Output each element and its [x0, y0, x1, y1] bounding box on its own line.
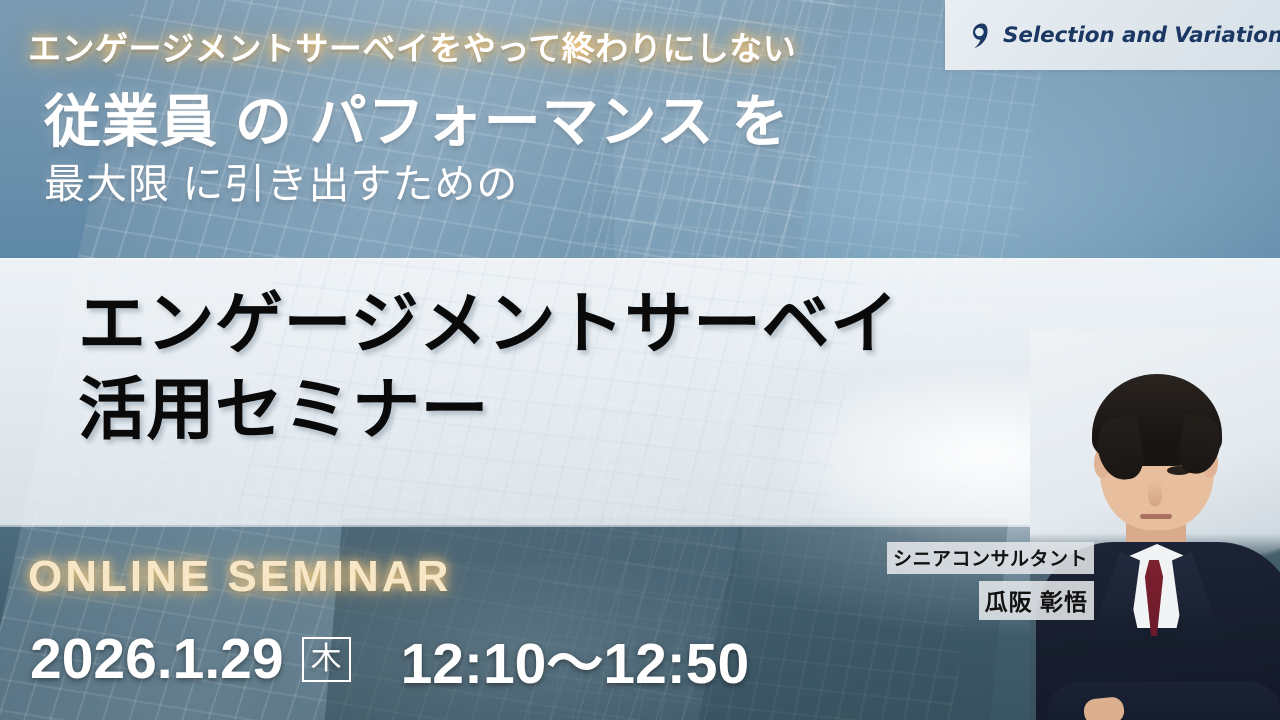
seminar-date: 2026.1.29 [30, 626, 284, 692]
spiral-circle-logo-icon [967, 20, 993, 50]
headline-line-1: 従業員 の パフォーマンス を [44, 92, 789, 154]
speaker-caption: シニアコンサルタント 瓜阪 彰悟 [887, 542, 1094, 620]
headline: 従業員 の パフォーマンス を 最大限 に引き出すための [44, 92, 789, 206]
seminar-banner: Selection and Variation エンゲージメントサーベイをやって… [0, 0, 1280, 720]
seminar-title: エンゲージメントサーベイ 活用セミナー [78, 288, 899, 446]
portrait-mouth [1140, 514, 1172, 519]
speaker-name: 瓜阪 彰悟 [979, 581, 1094, 620]
headline-line-2: 最大限 に引き出すための [44, 162, 789, 206]
speaker-portrait [1030, 330, 1280, 720]
seminar-title-line-1: エンゲージメントサーベイ [78, 288, 899, 360]
brand-name: Selection and Variation [1003, 23, 1280, 48]
kicker-text: エンゲージメントサーベイをやって終わりにしない [28, 22, 796, 70]
portrait-nose [1148, 480, 1162, 506]
portrait-crossed-arms [1048, 682, 1280, 720]
portrait-hand [1083, 696, 1125, 720]
seminar-title-line-2: 活用セミナー [78, 374, 899, 446]
seminar-weekday-badge: 木 [302, 637, 351, 682]
brand-logo-plate: Selection and Variation [945, 0, 1280, 70]
seminar-time: 12:10〜12:50 [401, 618, 750, 700]
speaker-role: シニアコンサルタント [887, 542, 1094, 574]
seminar-datetime: 2026.1.29 木 12:10〜12:50 [30, 618, 749, 700]
online-seminar-label: ONLINE SEMINAR [28, 552, 451, 602]
